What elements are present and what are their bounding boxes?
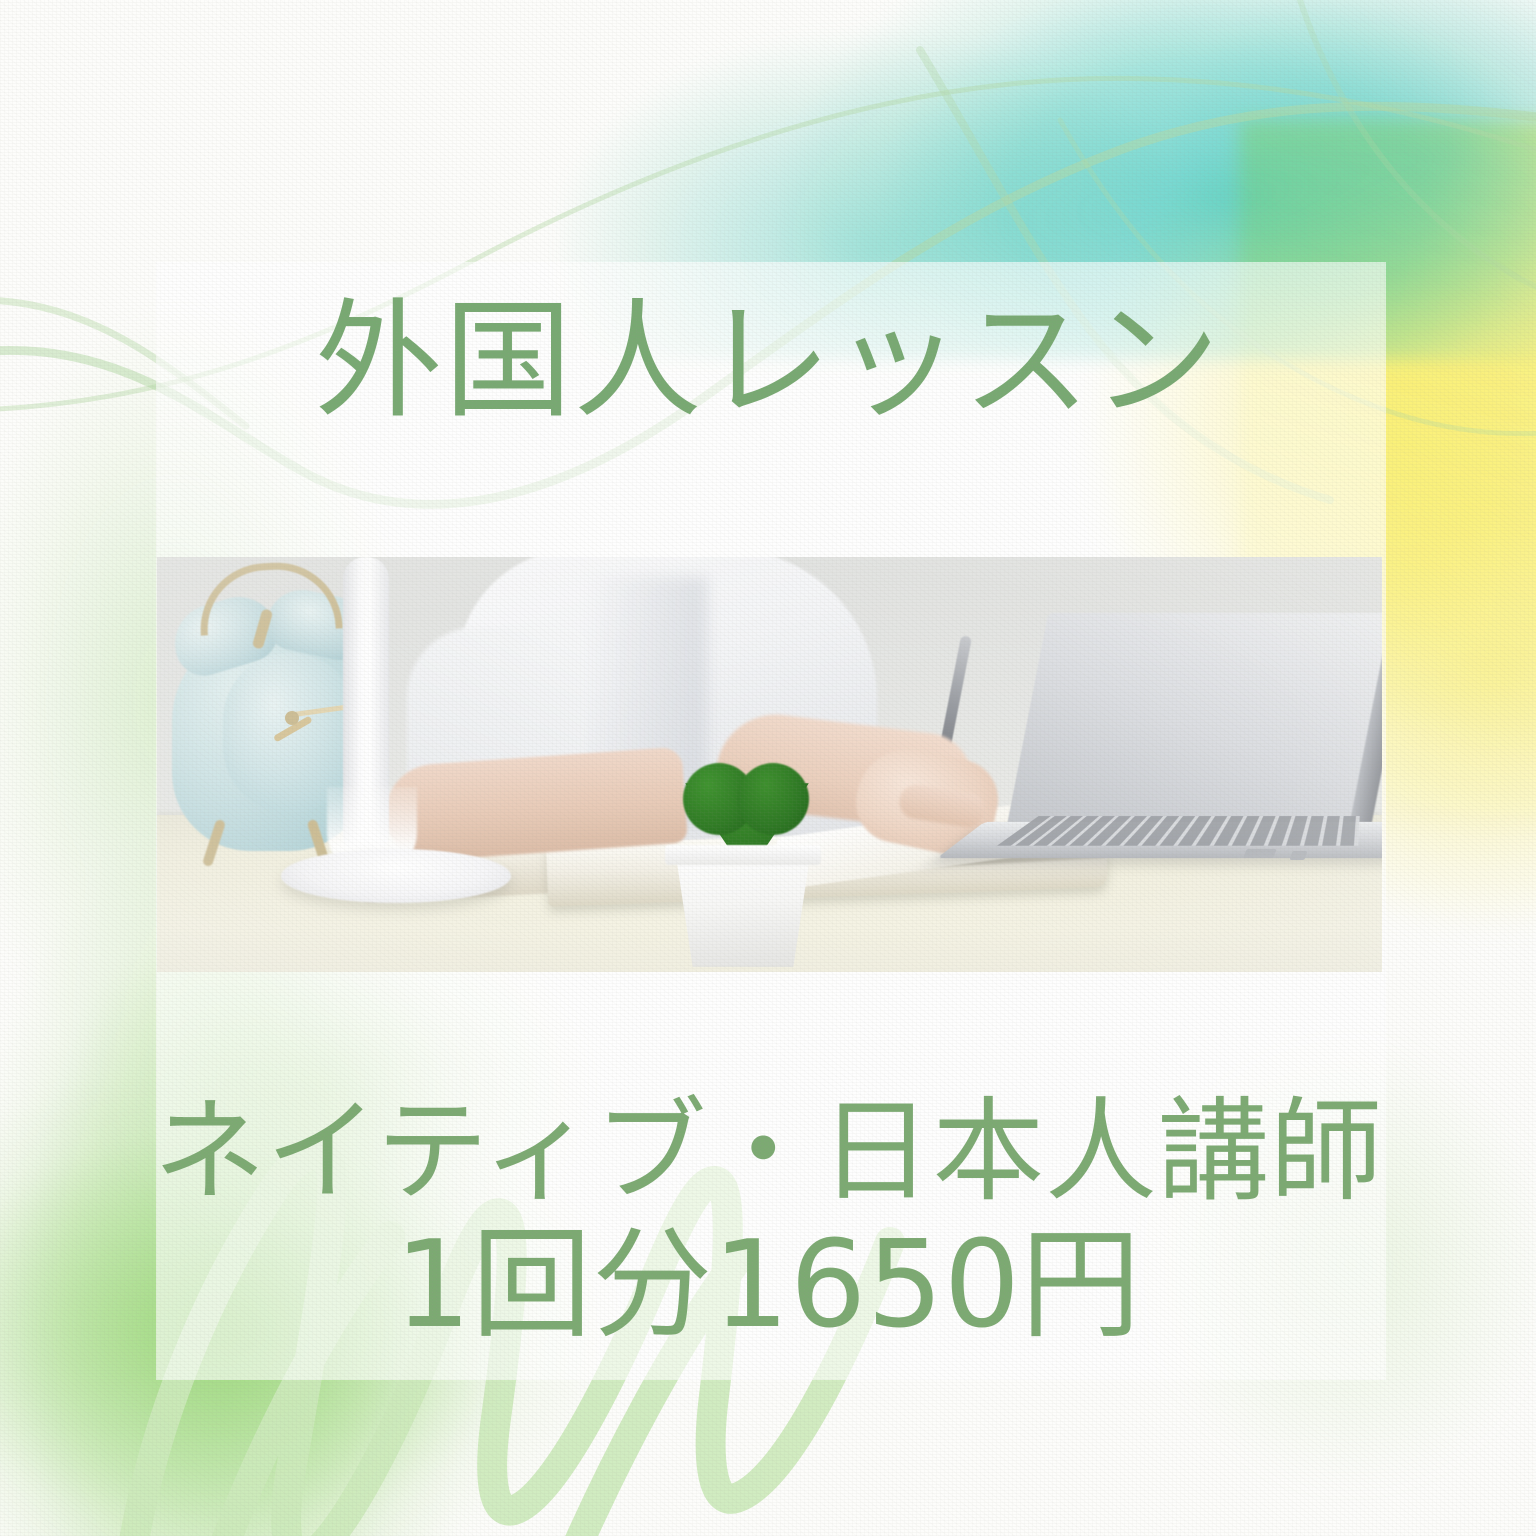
workspace-photo	[157, 557, 1382, 972]
subtitle-instructors: ネイティブ・日本人講師	[0, 1094, 1536, 1210]
poster-canvas: 外国人レッスン	[0, 0, 1536, 1536]
photo-vignette	[157, 557, 1382, 972]
price-text: 1回分1650円	[0, 1224, 1536, 1349]
page-title: 外国人レッスン	[0, 286, 1536, 437]
